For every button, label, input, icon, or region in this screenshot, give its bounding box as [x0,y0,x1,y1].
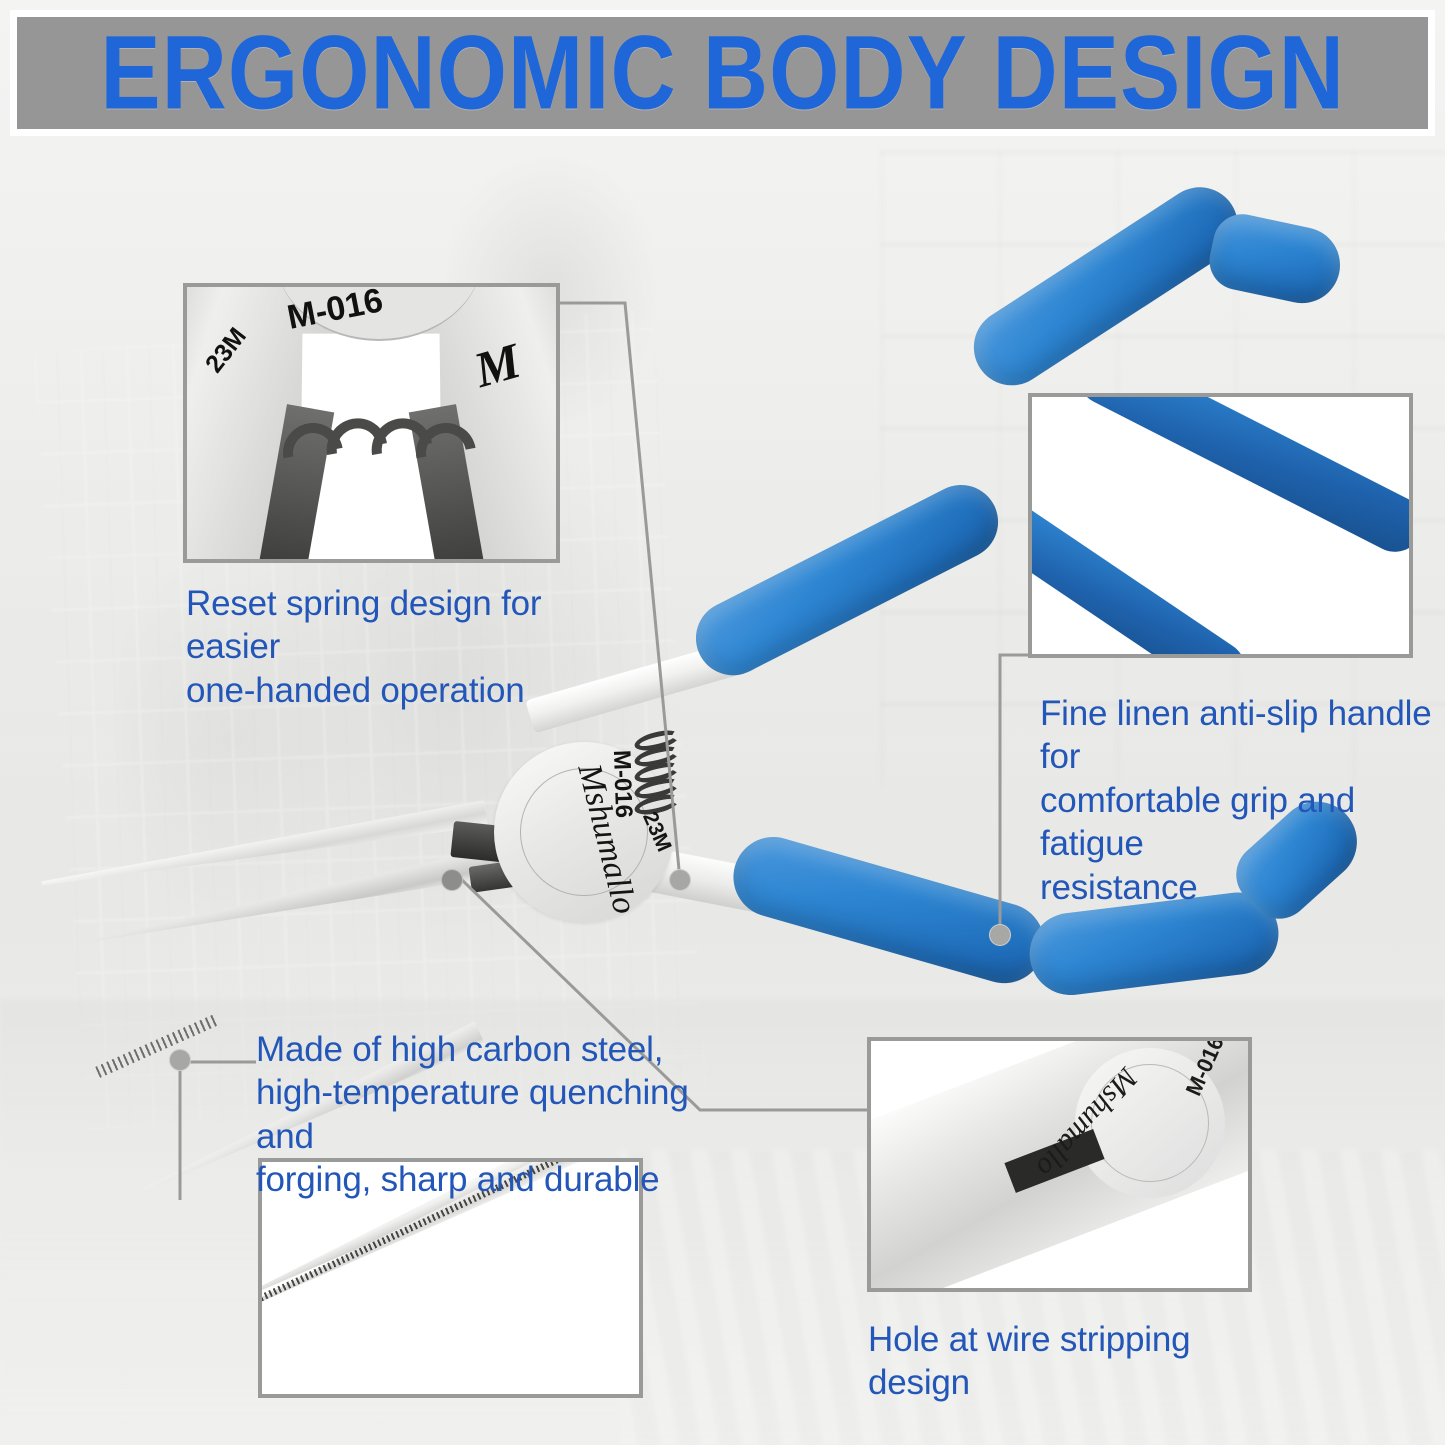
infographic-canvas: ERGONOMIC BODY DESIGN Mshumallo M-016 23… [0,0,1445,1445]
callout-line: Reset spring design for easier [186,582,616,669]
callout-high-carbon-steel: Made of high carbon steel, high-temperat… [256,1028,706,1202]
handle-tip-lower [1028,493,1255,658]
leader-dot-handle [989,924,1011,946]
callout-line: resistance [1040,866,1440,909]
leader-dot-spring [669,869,691,891]
inset-spring-detail: M-016 23M M [183,283,560,563]
title-banner: ERGONOMIC BODY DESIGN [10,10,1435,136]
leader-dot-steel [441,869,463,891]
spring-photo: M-016 23M M [187,287,556,559]
callout-line: comfortable grip and fatigue [1040,779,1440,866]
inset-hole-detail: Mshumallo M-016 [867,1037,1252,1292]
callout-line: forging, sharp and durable [256,1158,706,1201]
inset-handle-detail [1028,393,1413,658]
page-title: ERGONOMIC BODY DESIGN [100,21,1345,126]
leader-dot-tip [169,1049,191,1071]
callout-line: high-temperature quenching and [256,1071,706,1158]
callout-line: Hole at wire stripping design [868,1318,1288,1405]
callout-line: Fine linen anti-slip handle for [1040,692,1440,779]
callout-reset-spring: Reset spring design for easier one-hande… [186,582,616,712]
callout-line: Made of high carbon steel, [256,1028,706,1071]
handle-tip-upper [1069,393,1413,561]
callout-wire-stripping-hole: Hole at wire stripping design [868,1318,1288,1405]
callout-anti-slip-handle: Fine linen anti-slip handle for comforta… [1040,692,1440,909]
callout-line: one-handed operation [186,669,616,712]
